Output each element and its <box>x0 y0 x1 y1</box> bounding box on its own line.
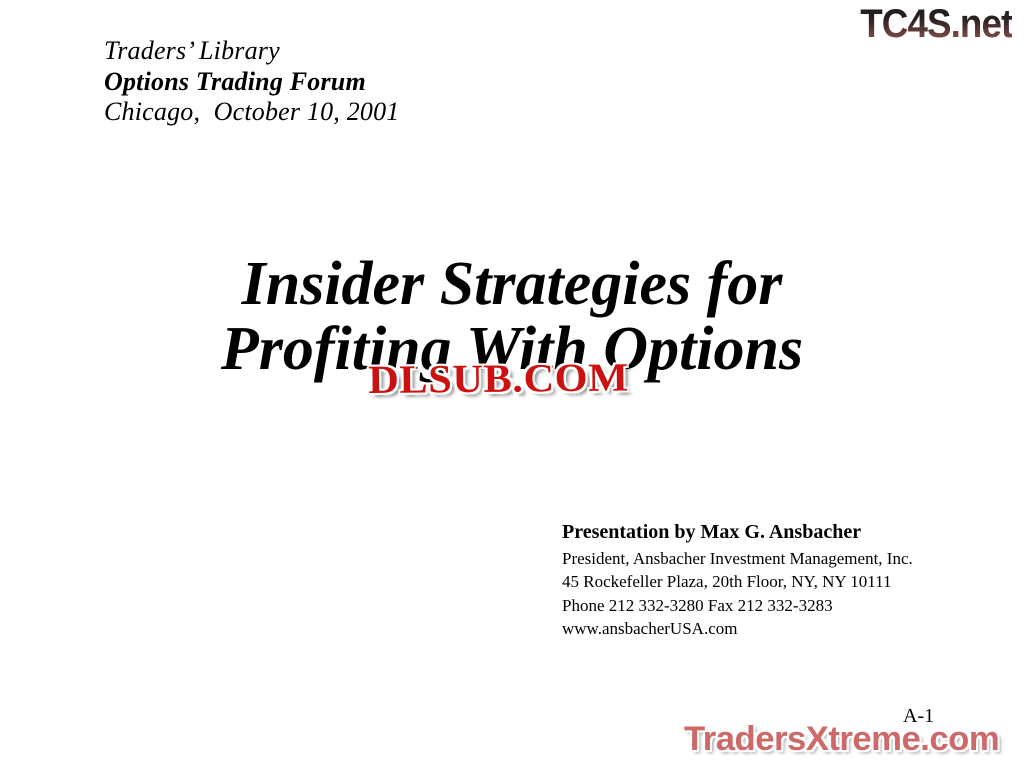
tradersxtreme-watermark: TradersXtreme.com <box>684 720 999 759</box>
tc4s-watermark: TC4S.net <box>860 2 1012 47</box>
title-line-1: Insider Strategies for <box>0 252 1024 317</box>
header-line-location-date: Chicago, October 10, 2001 <box>104 97 400 128</box>
presenter-address: 45 Rockefeller Plaza, 20th Floor, NY, NY… <box>562 570 913 593</box>
header-line-organization: Traders’ Library <box>104 36 400 67</box>
presenter-title-company: President, Ansbacher Investment Manageme… <box>562 547 913 570</box>
header-line-event: Options Trading Forum <box>104 67 400 98</box>
presenter-website: www.ansbacherUSA.com <box>562 617 913 640</box>
presenter-name: Presentation by Max G. Ansbacher <box>562 520 913 544</box>
dlsub-watermark: DLSUB.COM <box>368 353 629 403</box>
presenter-phone-fax: Phone 212 332-3280 Fax 212 332-3283 <box>562 594 913 617</box>
presentation-slide: Traders’ Library Options Trading Forum C… <box>0 0 1024 768</box>
slide-header: Traders’ Library Options Trading Forum C… <box>104 36 400 128</box>
presenter-block: Presentation by Max G. Ansbacher Preside… <box>562 520 913 641</box>
